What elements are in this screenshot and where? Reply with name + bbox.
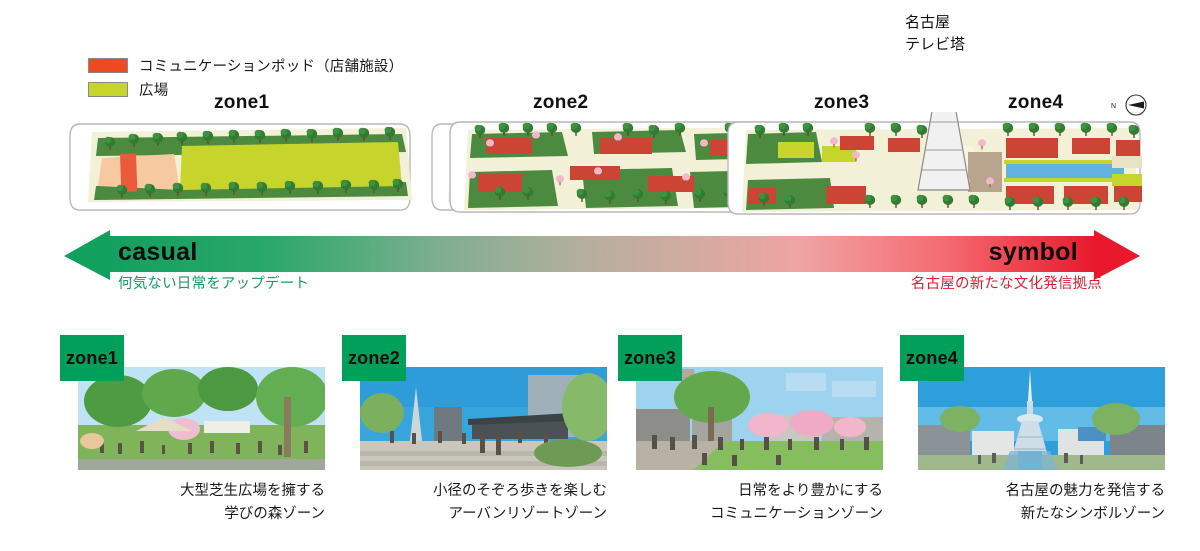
zone-caption-1: 大型芝生広場を擁する 学びの森ゾーン: [42, 480, 325, 526]
map-zone-label-4: zone4: [1008, 92, 1063, 114]
spectrum-right-word: symbol: [989, 238, 1078, 267]
spectrum-gradient-band: [107, 236, 1097, 272]
zone-caption-line1: 名古屋の魅力を発信する: [882, 480, 1165, 503]
square-swatch-icon: [88, 82, 128, 97]
arrow-left-head-icon: [62, 228, 110, 282]
zone-badge-3: zone3: [618, 335, 682, 381]
map-zone-label-1: zone1: [214, 92, 269, 114]
legend-item: コミュニケーションポッド（店舗施設）: [88, 55, 403, 75]
spectrum-right-caption: 名古屋の新たな文化発信拠点: [911, 272, 1102, 293]
map-block-zone1: [70, 124, 412, 210]
legend-item-label: 広場: [139, 79, 168, 100]
site-plan-map: [62, 112, 1144, 222]
diagram-canvas: コミュニケーションポッド（店舗施設） 広場 名古屋 テレビ塔 zone1 zon…: [0, 0, 1200, 551]
zone-caption-2: 小径のそぞろ歩きを楽しむ アーバンリゾートゾーン: [324, 480, 607, 526]
landmark-annotation: 名古屋 テレビ塔: [905, 12, 965, 56]
zone-badge-label: zone1: [66, 348, 118, 369]
zone-badge-1: zone1: [60, 335, 124, 381]
zone-photo-2: [360, 367, 607, 470]
zone-caption-line1: 小径のそぞろ歩きを楽しむ: [324, 480, 607, 503]
zone-caption-3: 日常をより豊かにする コミュニケーションゾーン: [600, 480, 883, 526]
map-zone-label-2: zone2: [533, 92, 588, 114]
landmark-label-line1: 名古屋: [905, 12, 965, 34]
map-zone-label-3: zone3: [814, 92, 869, 114]
zone-badge-4: zone4: [900, 335, 964, 381]
zone-photo-3: [636, 367, 883, 470]
spectrum-left-word: casual: [118, 238, 198, 267]
spectrum-left-caption: 何気ない日常をアップデート: [118, 272, 309, 293]
zone-badge-label: zone3: [624, 348, 676, 369]
landmark-label-line2: テレビ塔: [905, 34, 965, 56]
zone-badge-label: zone4: [906, 348, 958, 369]
zone-caption-4: 名古屋の魅力を発信する 新たなシンボルゾーン: [882, 480, 1165, 526]
svg-text:N: N: [1111, 103, 1116, 110]
zone-caption-line2: アーバンリゾートゾーン: [324, 503, 607, 526]
zone-caption-line1: 日常をより豊かにする: [600, 480, 883, 503]
zone-caption-line2: 学びの森ゾーン: [42, 503, 325, 526]
zone-caption-line1: 大型芝生広場を擁する: [42, 480, 325, 503]
square-swatch-icon: [88, 58, 128, 73]
zone-badge-2: zone2: [342, 335, 406, 381]
legend-item-label: コミュニケーションポッド（店舗施設）: [139, 55, 403, 76]
zone-badge-label: zone2: [348, 348, 400, 369]
zone-caption-line2: コミュニケーションゾーン: [600, 503, 883, 526]
zone-caption-line2: 新たなシンボルゾーン: [882, 503, 1165, 526]
zone-photo-4: [918, 367, 1165, 470]
zone-photo-1: [78, 367, 325, 470]
spectrum-arrow: casual 何気ない日常をアップデート symbol 名古屋の新たな文化発信拠…: [62, 228, 1142, 290]
